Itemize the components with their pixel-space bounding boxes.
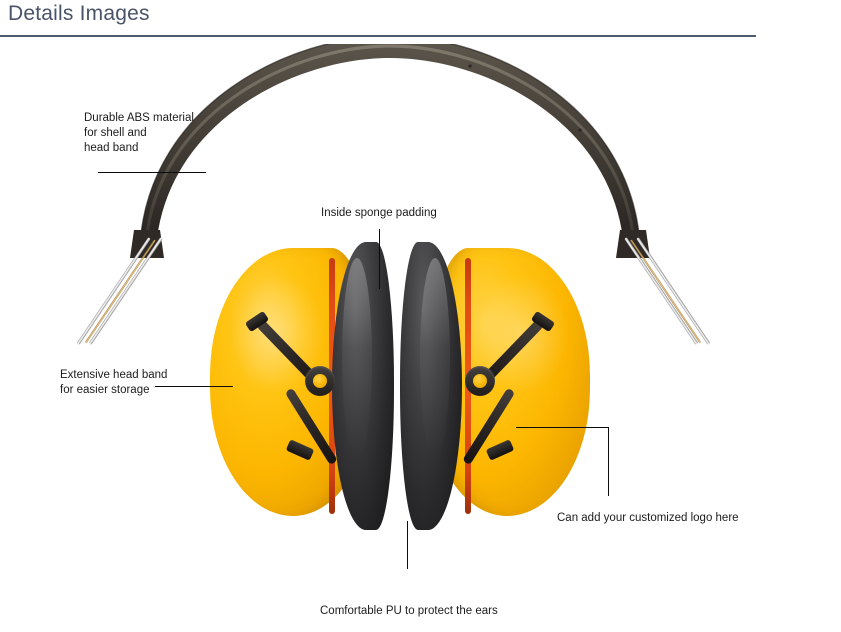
callout-comfortable-pu: Comfortable PU to protect the ears [320,604,560,619]
head-band [110,44,670,304]
page-title: Details Images [8,2,150,26]
ear-cushion-left [332,242,394,530]
callout-customized-logo: Can add your customized logo here [557,511,797,526]
pivot-arm-left-ring [305,366,335,396]
title-divider [0,35,756,37]
details-images-page: Details Images [0,0,841,632]
cushion-highlight-left [342,258,372,458]
pivot-arm-right-ring [465,366,495,396]
leader-comfortable-pu [407,521,408,569]
callout-durable-abs-material: Durable ABS material for shell and head … [84,111,264,156]
leader-durable-abs-material [98,172,206,173]
cushion-highlight-right [420,258,450,458]
leader-extensive-head-band [155,386,233,387]
leader-customized-logo-horizontal [516,427,609,428]
callout-inside-sponge-padding: Inside sponge padding [321,206,521,221]
leader-customized-logo-vertical [608,427,609,496]
leader-inside-sponge-padding [379,229,380,289]
callout-extensive-head-band: Extensive head band for easier storage [60,368,240,398]
section-header: Details Images [0,0,841,44]
